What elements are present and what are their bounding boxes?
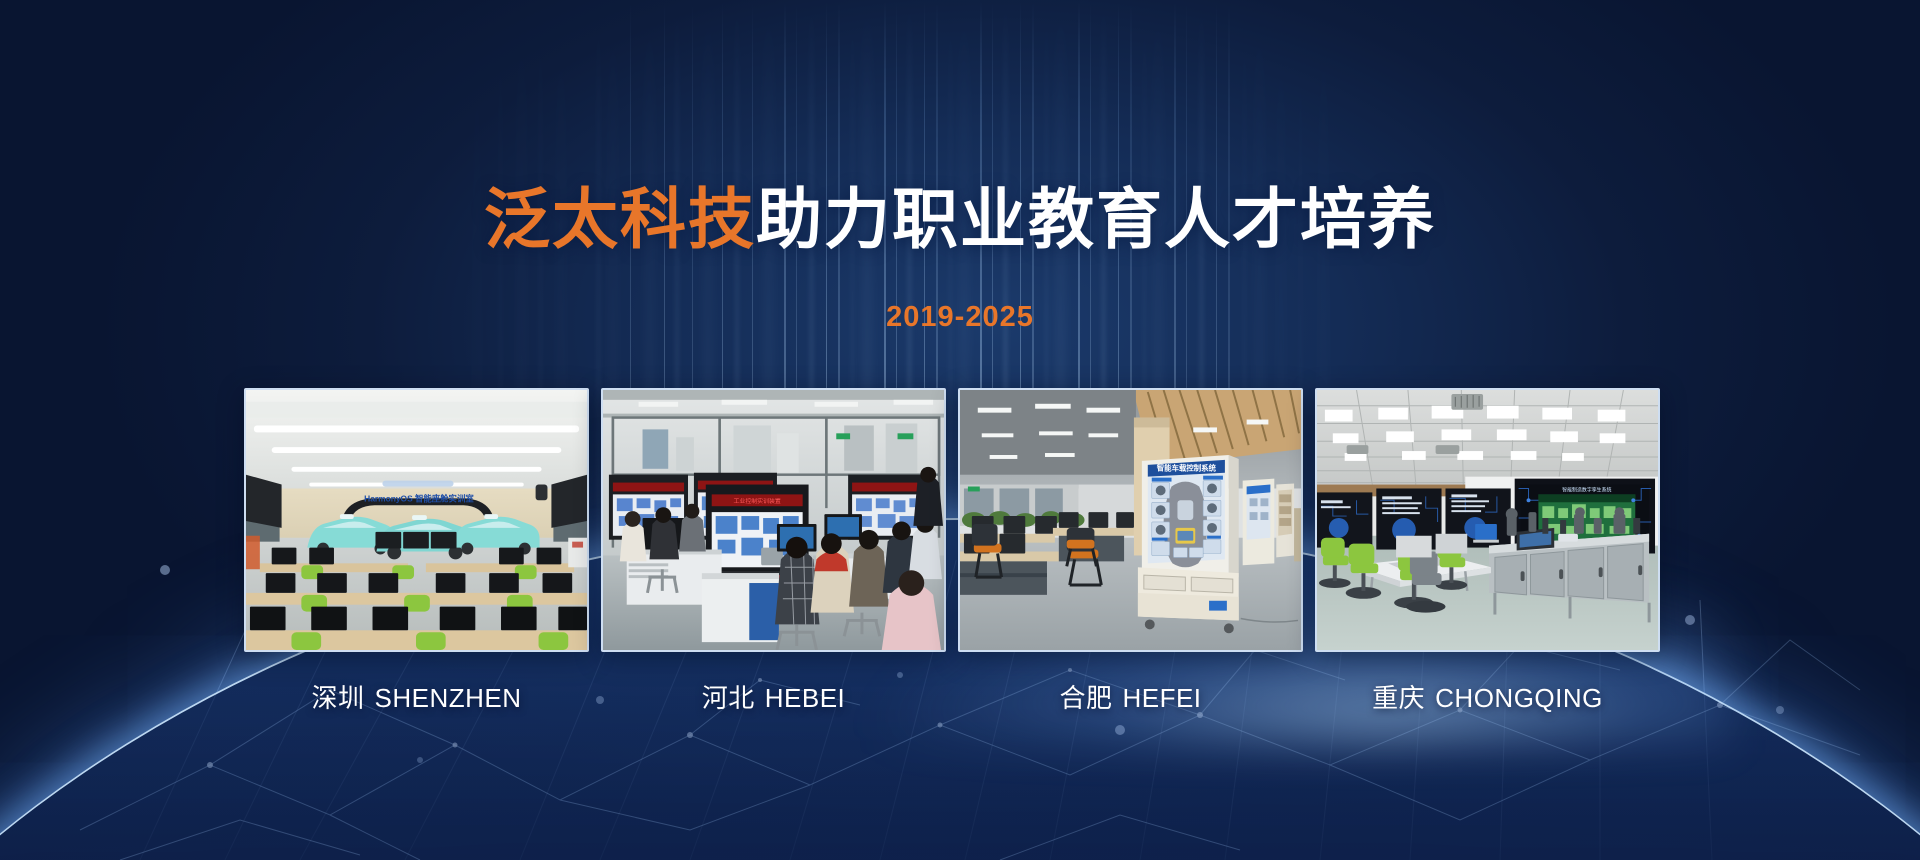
gallery-card-shenzhen[interactable]: HarmonyOS 智能座舱实训室 bbox=[244, 388, 589, 652]
caption-hebei-en: HEBEI bbox=[765, 683, 846, 713]
gallery-card-chongqing[interactable]: 智能制造数字孪生系统 bbox=[1315, 388, 1660, 652]
caption-chongqing: 重庆CHONGQING bbox=[1315, 678, 1660, 715]
caption-shenzhen-cn: 深圳 bbox=[311, 683, 364, 713]
caption-hebei: 河北HEBEI bbox=[601, 678, 946, 715]
caption-shenzhen: 深圳SHENZHEN bbox=[244, 678, 589, 715]
svg-text:智能车载控制系统: 智能车载控制系统 bbox=[1156, 464, 1217, 473]
caption-shenzhen-en: SHENZHEN bbox=[375, 683, 522, 713]
title-rest: 助力职业教育人才培养 bbox=[756, 182, 1436, 256]
banner-subtitle-years: 2019-2025 bbox=[0, 301, 1920, 334]
photo-shenzhen-classroom: HarmonyOS 智能座舱实训室 bbox=[246, 390, 587, 650]
caption-hefei-cn: 合肥 bbox=[1059, 683, 1112, 713]
promo-banner: 泛太科技助力职业教育人才培养 2019-2025 bbox=[0, 0, 1920, 860]
photo-hefei-demo-room: 智能车载控制系统 bbox=[960, 390, 1301, 650]
caption-chongqing-cn: 重庆 bbox=[1372, 683, 1425, 713]
gallery-card-hebei[interactable]: 工业控制实训装置 bbox=[601, 388, 946, 652]
svg-text:工业控制实训装置: 工业控制实训装置 bbox=[734, 497, 781, 505]
caption-hefei-en: HEFEI bbox=[1122, 683, 1201, 713]
page-title: 泛太科技助力职业教育人才培养 bbox=[0, 186, 1920, 252]
caption-chongqing-en: CHONGQING bbox=[1435, 683, 1603, 713]
photo-chongqing-smart-lab: 智能制造数字孪生系统 bbox=[1317, 390, 1658, 650]
banner-title-block: 泛太科技助力职业教育人才培养 bbox=[0, 186, 1920, 252]
svg-text:HarmonyOS 智能座舱实训室: HarmonyOS 智能座舱实训室 bbox=[364, 493, 474, 503]
gallery-card-hefei[interactable]: 智能车载控制系统 bbox=[958, 388, 1303, 652]
title-brand: 泛太科技 bbox=[484, 182, 756, 256]
caption-hefei: 合肥HEFEI bbox=[958, 678, 1303, 715]
photo-hebei-training-lab: 工业控制实训装置 bbox=[603, 390, 944, 650]
caption-hebei-cn: 河北 bbox=[702, 683, 755, 713]
photo-caption-row: 深圳SHENZHEN 河北HEBEI 合肥HEFEI 重庆CHONGQING bbox=[244, 678, 1676, 715]
svg-text:智能制造数字孪生系统: 智能制造数字孪生系统 bbox=[1562, 486, 1611, 493]
photo-gallery-row: HarmonyOS 智能座舱实训室 bbox=[244, 388, 1676, 652]
